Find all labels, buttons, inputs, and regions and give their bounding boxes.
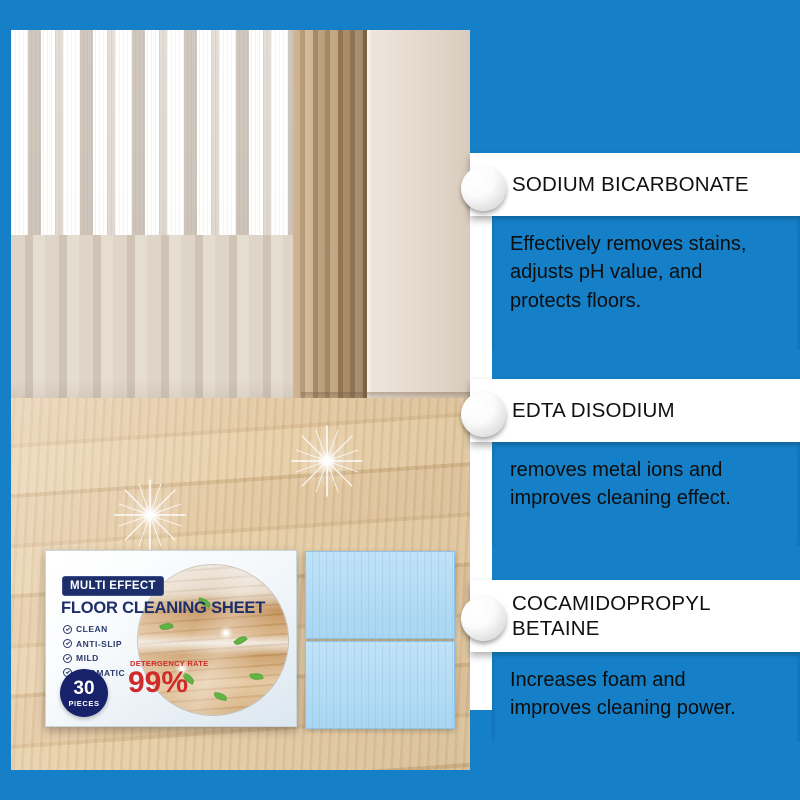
ingredient-description-3: Increases foam and improves cleaning pow… [492, 652, 800, 742]
desc-line: Increases foam and [510, 666, 778, 694]
cleaning-sheet-top [305, 551, 455, 639]
ingredient-title-3-line2: BETAINE [512, 616, 711, 641]
ingredient-title-3-line1: COCAMIDOPROPYL [512, 591, 711, 616]
desc-line: adjusts pH value, and [510, 258, 778, 286]
piece-count-unit: PIECES [68, 700, 99, 708]
check-circle-icon [63, 654, 72, 663]
bullet-sphere-icon [461, 596, 506, 641]
feature-label: CLEAN [76, 624, 108, 634]
feature-label: ANTI-SLIP [76, 639, 122, 649]
multi-effect-badge: MULTI EFFECT [62, 576, 164, 596]
product-box-title: FLOOR CLEANING SHEET [61, 599, 265, 618]
ingredient-card-3: COCAMIDOPROPYL BETAINE [470, 580, 800, 652]
ingredient-description-2: removes metal ions and improves cleaning… [492, 442, 800, 546]
bullet-sphere-icon [461, 392, 506, 437]
ingredient-title-1: SODIUM BICARBONATE [470, 172, 759, 197]
ingredient-card-1: SODIUM BICARBONATE [470, 153, 800, 216]
feature-item: CLEAN [63, 624, 125, 634]
ingredient-card-2: EDTA DISODIUM [470, 379, 800, 442]
cleaning-sheet-bottom [305, 641, 455, 729]
tan-drape-panel [293, 30, 373, 422]
desc-line: Effectively removes stains, [510, 230, 778, 258]
ingredient-title-3: COCAMIDOPROPYL BETAINE [470, 591, 721, 641]
sheer-curtain-lower [11, 235, 316, 420]
ingredient-description-1: Effectively removes stains, adjusts pH v… [492, 216, 800, 350]
check-circle-icon [63, 625, 72, 634]
desc-line: improves cleaning effect. [510, 484, 778, 512]
window-sheer-curtain [11, 30, 311, 240]
check-circle-icon [63, 639, 72, 648]
bullet-sphere-icon [461, 166, 506, 211]
white-wall-column [367, 30, 470, 400]
sparkle-icon [218, 625, 234, 641]
infographic-stage: MULTI EFFECT FLOOR CLEANING SHEET CLEAN … [0, 0, 800, 800]
detergency-rate-value: 99% [128, 668, 188, 698]
feature-item: ANTI-SLIP [63, 639, 125, 649]
wall-edge-highlight [367, 30, 374, 400]
piece-count-number: 30 [73, 679, 94, 698]
piece-count-badge: 30 PIECES [60, 669, 108, 717]
desc-line: protects floors. [510, 287, 778, 315]
desc-line: improves cleaning power. [510, 694, 778, 722]
feature-item: MILD [63, 653, 125, 663]
feature-label: MILD [76, 653, 99, 663]
product-box: MULTI EFFECT FLOOR CLEANING SHEET CLEAN … [45, 550, 297, 727]
desc-line: removes metal ions and [510, 456, 778, 484]
